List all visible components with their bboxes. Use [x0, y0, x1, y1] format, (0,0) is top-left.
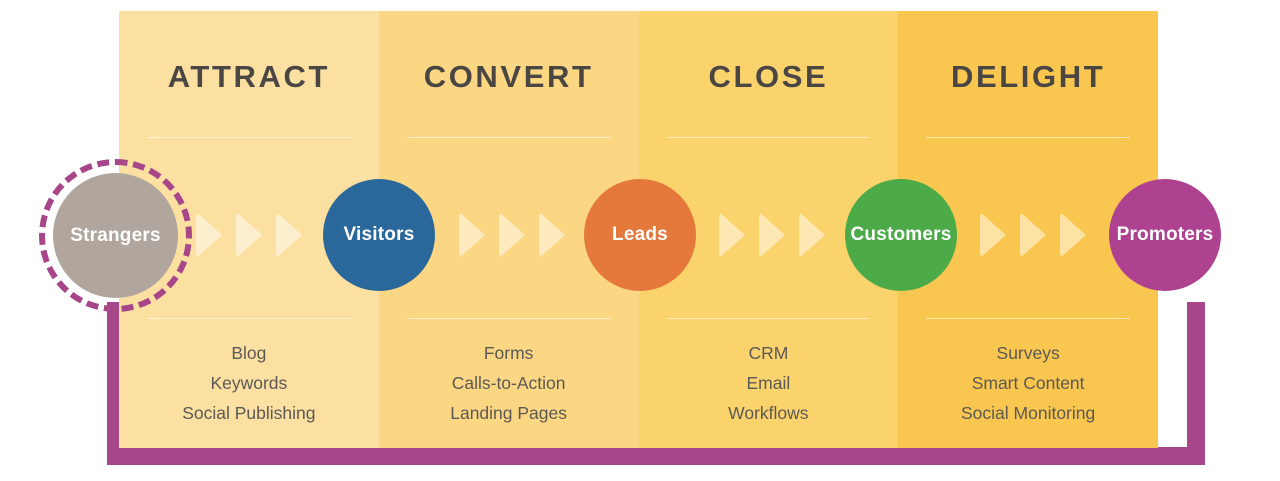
divider-top	[926, 137, 1130, 138]
flow-arrow-group-4	[980, 212, 1086, 258]
chevron-right-icon	[799, 212, 825, 258]
stage-tool-item: Keywords	[119, 368, 379, 398]
divider-bottom	[407, 318, 611, 319]
chevron-right-icon	[499, 212, 525, 258]
stage-tool-item: Social Publishing	[119, 398, 379, 428]
persona-circle-strangers[interactable]: Strangers	[53, 173, 178, 298]
divider-bottom	[926, 318, 1130, 319]
divider-top	[147, 137, 351, 138]
persona-circle-label: Customers	[850, 224, 951, 246]
chevron-right-icon	[1020, 212, 1046, 258]
chevron-right-icon	[236, 212, 262, 258]
flow-arrow-group-3	[719, 212, 825, 258]
stage-tool-item: CRM	[639, 338, 899, 368]
divider-top	[667, 137, 871, 138]
persona-circle-visitors[interactable]: Visitors	[323, 179, 435, 291]
stage-title: CLOSE	[708, 59, 828, 95]
persona-circle-label: Visitors	[344, 224, 415, 246]
inbound-methodology-diagram: ATTRACTBlogKeywordsSocial PublishingCONV…	[0, 0, 1280, 481]
stage-title: CONVERT	[424, 59, 594, 95]
stage-tool-item: Smart Content	[898, 368, 1158, 398]
stage-tool-item: Social Monitoring	[898, 398, 1158, 428]
stage-tool-item: Email	[639, 368, 899, 398]
stage-tool-list: CRMEmailWorkflows	[639, 338, 899, 428]
divider-bottom	[147, 318, 351, 319]
persona-circle-promoters[interactable]: Promoters	[1109, 179, 1221, 291]
stage-tool-list: FormsCalls-to-ActionLanding Pages	[379, 338, 639, 428]
chevron-right-icon	[719, 212, 745, 258]
persona-circle-label: Leads	[612, 224, 668, 246]
stage-title: DELIGHT	[951, 59, 1105, 95]
chevron-right-icon	[539, 212, 565, 258]
stage-tool-list: BlogKeywordsSocial Publishing	[119, 338, 379, 428]
frame-right-edge	[1187, 302, 1205, 465]
stage-tool-item: Workflows	[639, 398, 899, 428]
chevron-right-icon	[196, 212, 222, 258]
chevron-right-icon	[1060, 212, 1086, 258]
stage-tool-item: Blog	[119, 338, 379, 368]
stage-tool-item: Forms	[379, 338, 639, 368]
divider-top	[407, 137, 611, 138]
frame-bottom-edge	[107, 447, 1205, 465]
chevron-right-icon	[276, 212, 302, 258]
flow-arrow-group-1	[196, 212, 302, 258]
stage-tool-item: Landing Pages	[379, 398, 639, 428]
flow-arrow-group-2	[459, 212, 565, 258]
stage-tool-list: SurveysSmart ContentSocial Monitoring	[898, 338, 1158, 428]
chevron-right-icon	[980, 212, 1006, 258]
stage-title: ATTRACT	[168, 59, 330, 95]
chevron-right-icon	[759, 212, 785, 258]
stage-tool-item: Calls-to-Action	[379, 368, 639, 398]
persona-circle-customers[interactable]: Customers	[845, 179, 957, 291]
persona-circle-label: Strangers	[70, 225, 161, 247]
divider-bottom	[667, 318, 871, 319]
persona-circle-label: Promoters	[1117, 224, 1214, 246]
persona-circle-leads[interactable]: Leads	[584, 179, 696, 291]
stage-tool-item: Surveys	[898, 338, 1158, 368]
chevron-right-icon	[459, 212, 485, 258]
